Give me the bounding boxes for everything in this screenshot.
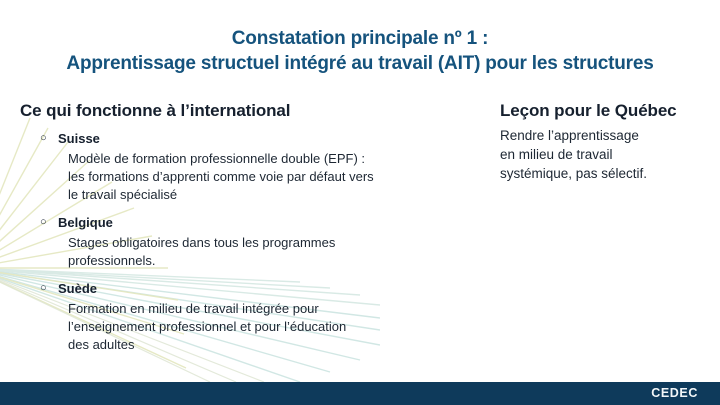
cedec-logo: CEDEC: [651, 382, 698, 405]
right-column: Leçon pour le Québec Rendre l’apprentiss…: [500, 100, 705, 183]
slide-title-line-2: Apprentissage structuel intégré au trava…: [0, 51, 720, 76]
slide-canvas: Constatation principale nº 1 : Apprentis…: [0, 0, 720, 405]
bullet-circle-icon: ○: [40, 129, 58, 148]
list-item-belgique: ○ Belgique: [20, 213, 490, 232]
body-line: professionnels.: [68, 252, 490, 270]
body-line: Formation en milieu de travail intégrée …: [68, 300, 490, 318]
body-line: en milieu de travail: [500, 145, 705, 164]
list-item-suede: ○ Suède: [20, 279, 490, 298]
list-item-label: Belgique: [58, 213, 113, 232]
body-line: des adultes: [68, 336, 490, 354]
body-line: Modèle de formation professionnelle doub…: [68, 150, 490, 168]
body-line: systémique, pas sélectif.: [500, 164, 705, 183]
list-item-label: Suède: [58, 279, 97, 298]
bullet-circle-icon: ○: [40, 213, 58, 232]
list-item-suede-body: Formation en milieu de travail intégrée …: [20, 300, 490, 354]
body-line: Stages obligatoires dans tous les progra…: [68, 234, 490, 252]
heading-line: Leçon pour le: [500, 101, 610, 120]
list-item-belgique-body: Stages obligatoires dans tous les progra…: [20, 234, 490, 270]
body-line: les formations d’apprenti comme voie par…: [68, 168, 490, 186]
body-line: le travail spécialisé: [68, 186, 490, 204]
list-item-label: Suisse: [58, 129, 100, 148]
list-item-suisse-body: Modèle de formation professionnelle doub…: [20, 150, 490, 204]
footer-bar: CEDEC: [0, 382, 720, 405]
slide-title: Constatation principale nº 1 : Apprentis…: [0, 26, 720, 76]
left-column: Ce qui fonctionne à l’international ○ Su…: [20, 100, 490, 363]
left-column-heading: Ce qui fonctionne à l’international: [20, 100, 490, 122]
body-line: l’enseignement professionnel et pour l’é…: [68, 318, 490, 336]
list-item-suisse: ○ Suisse: [20, 129, 490, 148]
right-column-heading: Leçon pour le Québec: [500, 100, 705, 121]
body-line: Rendre l’apprentissage: [500, 126, 705, 145]
right-column-body: Rendre l’apprentissage en milieu de trav…: [500, 126, 705, 183]
bullet-circle-icon: ○: [40, 279, 58, 298]
heading-line: Québec: [615, 101, 677, 120]
slide-title-line-1: Constatation principale nº 1 :: [0, 26, 720, 51]
